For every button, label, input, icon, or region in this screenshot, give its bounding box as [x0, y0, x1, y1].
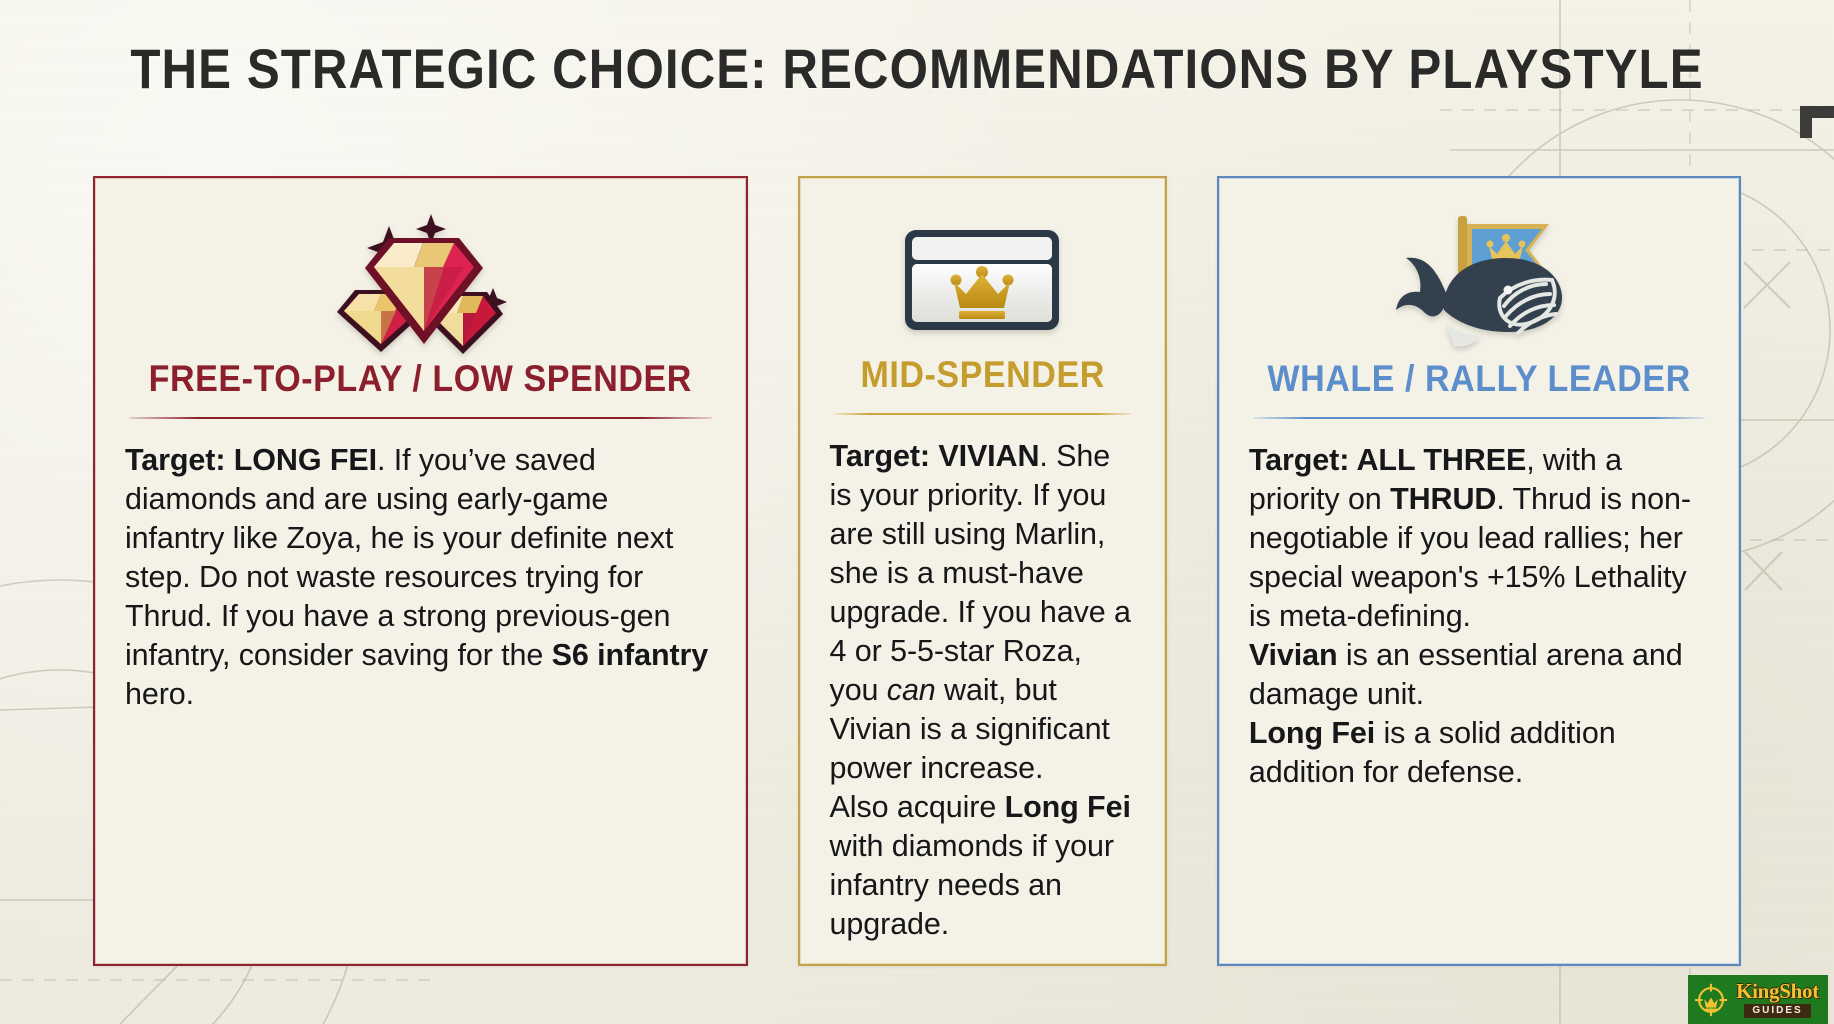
logo-wordmark: KingShot — [1736, 981, 1819, 1002]
logo-text: KingShot GUIDES — [1733, 981, 1822, 1019]
whale-flag-icon — [1249, 204, 1709, 354]
credit-card-crown-icon — [830, 204, 1135, 350]
card-free-to-play[interactable]: FREE-TO-PLAY / LOW SPENDER Target: LONG … — [93, 176, 748, 966]
card-heading-whale: WHALE / RALLY LEADER — [1267, 360, 1690, 399]
card-body-free-to-play: Target: LONG FEI. If you’ve saved diamon… — [125, 441, 716, 714]
recommendation-cards: FREE-TO-PLAY / LOW SPENDER Target: LONG … — [93, 176, 1741, 966]
kingshot-guides-logo[interactable]: KingShot GUIDES — [1688, 975, 1828, 1024]
card-mid-spender[interactable]: MID-SPENDER Target: VIVIAN. She is your … — [798, 176, 1167, 966]
gems-icon — [125, 204, 716, 354]
logo-subtitle: GUIDES — [1744, 1004, 1810, 1019]
card-heading-free-to-play: FREE-TO-PLAY / LOW SPENDER — [149, 360, 692, 399]
card-whale-rally-leader[interactable]: WHALE / RALLY LEADER Target: ALL THREE, … — [1217, 176, 1741, 966]
page-title: THE STRATEGIC CHOICE: RECOMMENDATIONS BY… — [110, 36, 1724, 101]
card-body-mid-spender: Target: VIVIAN. She is your priority. If… — [830, 437, 1135, 944]
crosshair-crown-icon — [1694, 983, 1728, 1017]
card-heading-mid-spender: MID-SPENDER — [842, 356, 1123, 395]
card-divider — [1253, 417, 1705, 419]
card-divider — [834, 413, 1131, 415]
card-body-whale: Target: ALL THREE, with a priority on TH… — [1249, 441, 1709, 792]
card-divider — [129, 417, 712, 419]
